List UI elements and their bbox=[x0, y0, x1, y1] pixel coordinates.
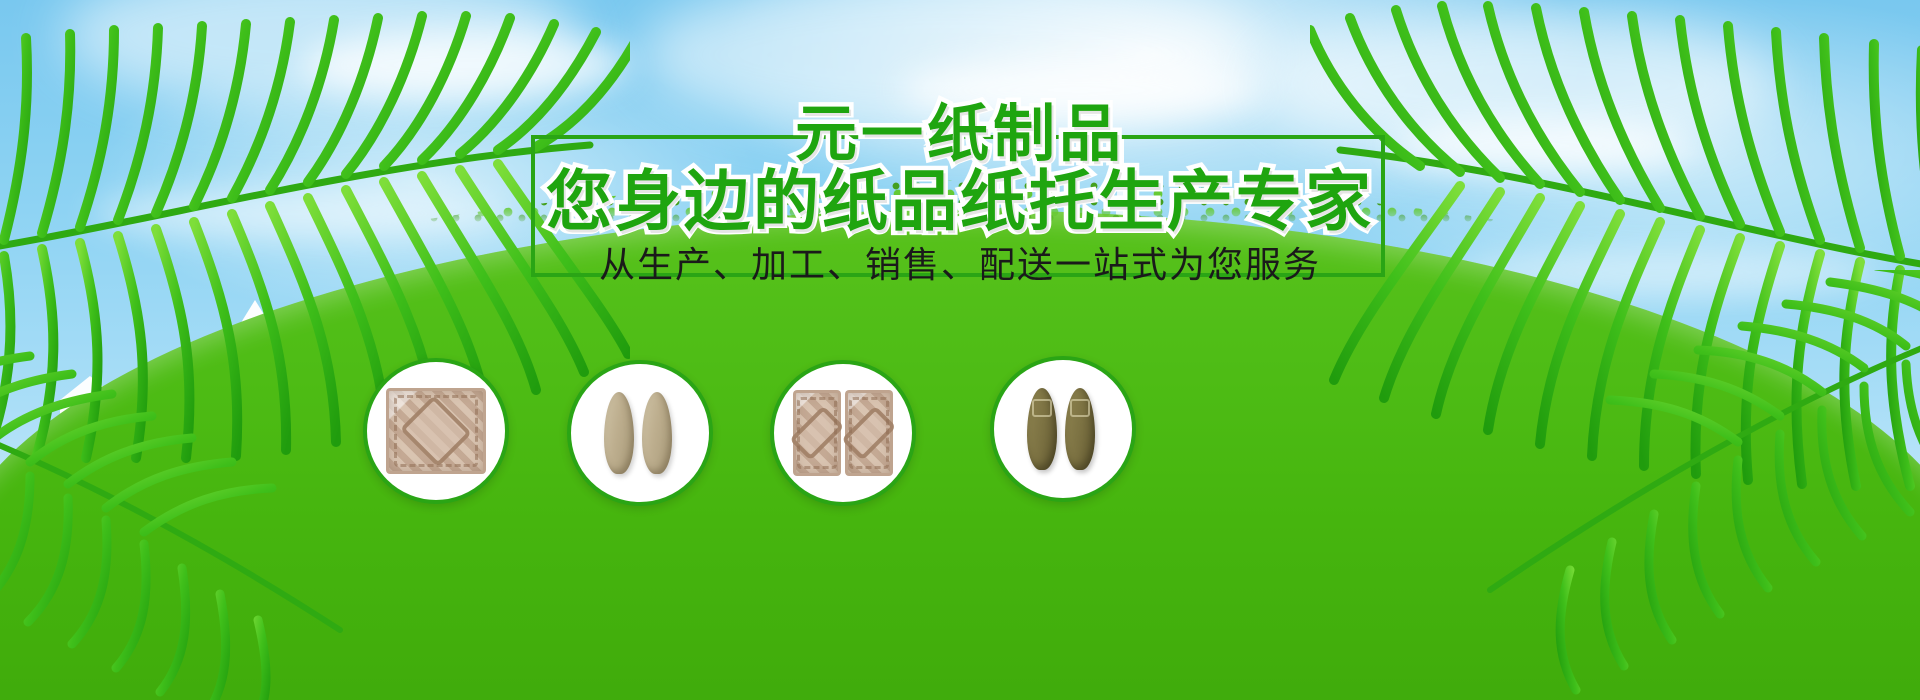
paper-pulp-insole-pair-image bbox=[590, 390, 690, 476]
product-circle-2[interactable] bbox=[567, 360, 713, 506]
product-circle-4[interactable] bbox=[990, 356, 1136, 502]
banner-subtitle: 从生产、加工、销售、配送一站式为您服务 bbox=[0, 236, 1920, 288]
product-circle-1[interactable] bbox=[363, 358, 509, 504]
promo-banner: 元一纸制品 您身边的纸品纸托生产专家 从生产、加工、销售、配送一站式为您服务 bbox=[0, 0, 1920, 700]
paper-pulp-insole-dark-image bbox=[1013, 386, 1113, 472]
product-circle-3[interactable] bbox=[770, 360, 916, 506]
paper-pulp-tray-image bbox=[386, 388, 486, 474]
headline-block: 元一纸制品 您身边的纸品纸托生产专家 从生产、加工、销售、配送一站式为您服务 bbox=[0, 0, 1920, 360]
headline-slogan: 您身边的纸品纸托生产专家 bbox=[0, 148, 1920, 244]
paper-pulp-tray-pair-image bbox=[793, 390, 893, 476]
